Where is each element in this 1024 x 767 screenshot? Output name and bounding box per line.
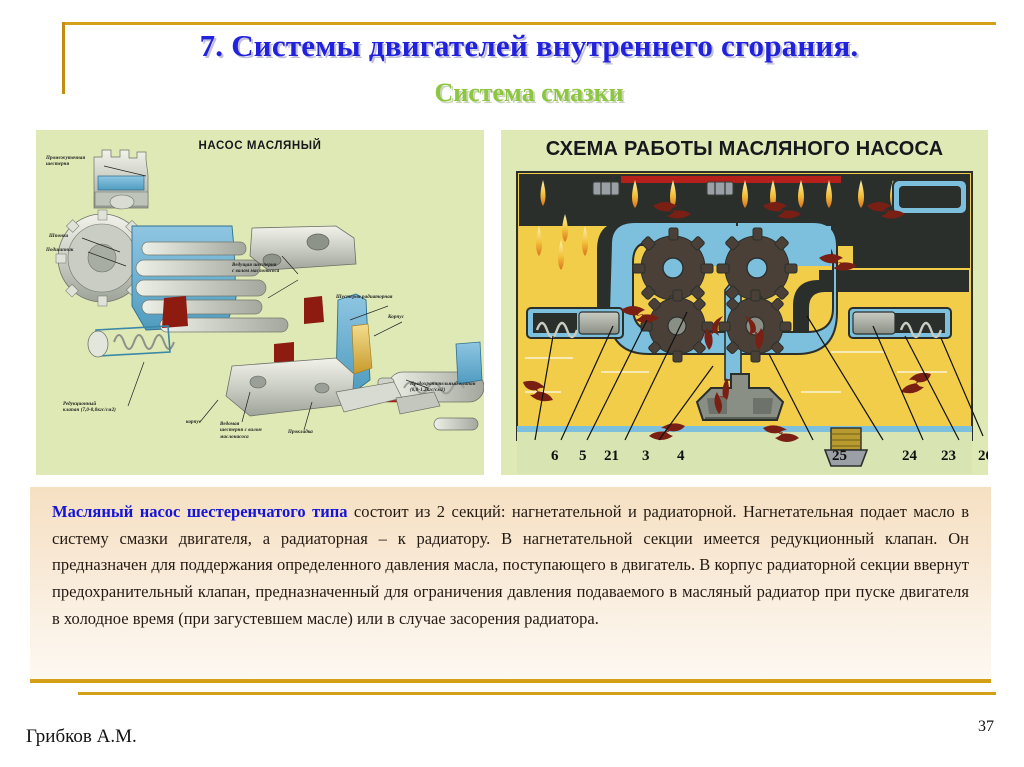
callout-number: 5 xyxy=(579,448,587,465)
page-title: 7. Системы двигателей внутреннего сгоран… xyxy=(62,28,996,64)
description-paragraph: Масляный насос шестеренчатого типа состо… xyxy=(52,499,969,633)
figure-label: Ведущая шестерня с валом маслонасоса xyxy=(232,263,279,276)
description-textbox: Масляный насос шестеренчатого типа состо… xyxy=(30,487,991,683)
figure-label: Корпус xyxy=(388,315,404,321)
description-highlight: Масляный насос шестеренчатого типа xyxy=(52,502,347,521)
slide: 7. Системы двигателей внутреннего сгоран… xyxy=(0,0,1024,767)
callout-number: 6 xyxy=(551,448,559,465)
figure-label: Прокладка xyxy=(288,430,313,436)
pump-operation-schematic-figure: СХЕМА РАБОТЫ МАСЛЯНОГО НАСОСА xyxy=(501,130,988,475)
footer-rule xyxy=(78,692,996,695)
callout-number: 3 xyxy=(642,448,650,465)
page-number: 37 xyxy=(978,718,994,736)
callout-number: 21 xyxy=(604,448,619,465)
figure-label: Промежуточная шестерня xyxy=(46,156,85,169)
header-top-rule xyxy=(62,22,996,25)
figure-label: Шпонка xyxy=(49,234,68,240)
figure-label: Ведомая шестерня с валом маслонасоса xyxy=(220,422,262,441)
callout-number: 24 xyxy=(902,448,917,465)
callout-number: 4 xyxy=(677,448,685,465)
figure-label: Редукционный клапан (7,0-8,0кгс/см2) xyxy=(63,402,116,415)
callout-number: 26 xyxy=(978,448,988,465)
callout-number: 23 xyxy=(941,448,956,465)
page-subtitle: Система смазки xyxy=(62,78,996,108)
figure-label: Подшипник xyxy=(46,248,74,254)
figure-label: корпус xyxy=(186,420,201,426)
author-name: Грибков А.М. xyxy=(26,726,137,748)
pump-operation-schematic-drawing xyxy=(501,130,988,475)
figure-label: Предохранительный клапан (0,8-1,2кгс/см2… xyxy=(410,382,476,395)
oil-pump-cutaway-figure: НАСОС МАСЛЯНЫЙ xyxy=(36,130,484,475)
figure-label: Шестерня радиаторная xyxy=(336,295,393,301)
callout-number: 25 xyxy=(832,448,847,465)
